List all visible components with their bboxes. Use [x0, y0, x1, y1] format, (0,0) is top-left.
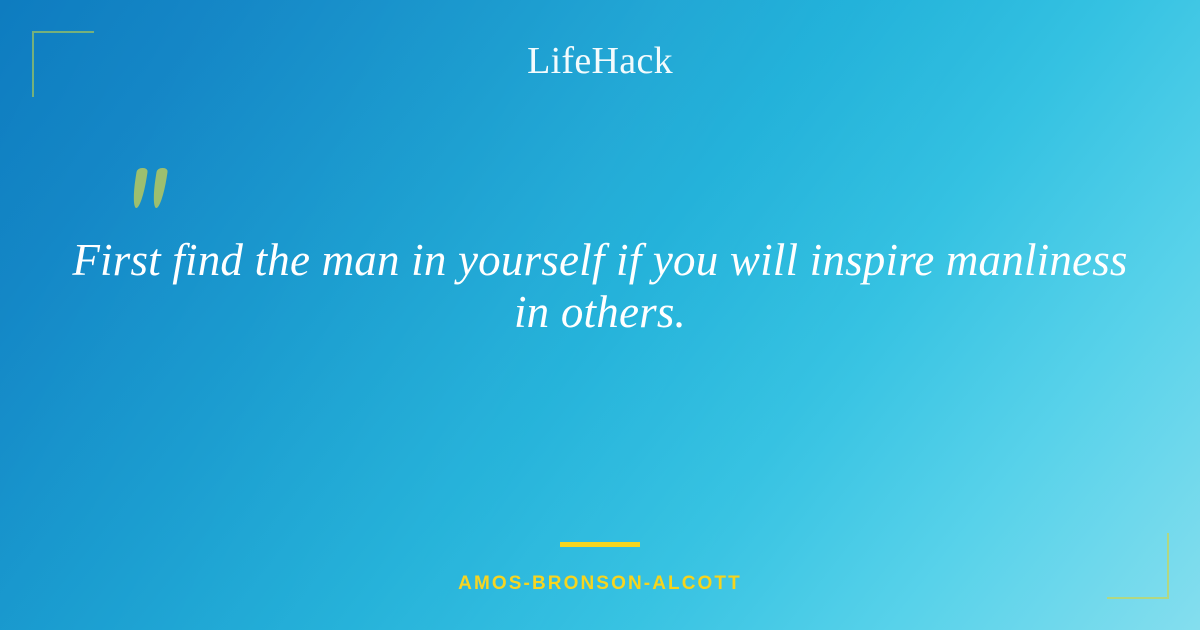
quote-mark-stroke-right: [151, 168, 168, 208]
quote-mark-stroke-left: [131, 168, 148, 208]
quote-text: First find the man in yourself if you wi…: [60, 234, 1140, 338]
attribution-divider: [560, 542, 640, 547]
lifehack-logo: LifeHack: [0, 38, 1200, 84]
quote-author: AMOS-BRONSON-ALCOTT: [0, 571, 1200, 597]
quote-card: LifeHack First find the man in yourself …: [0, 0, 1200, 630]
double-quote-icon: [132, 168, 178, 218]
